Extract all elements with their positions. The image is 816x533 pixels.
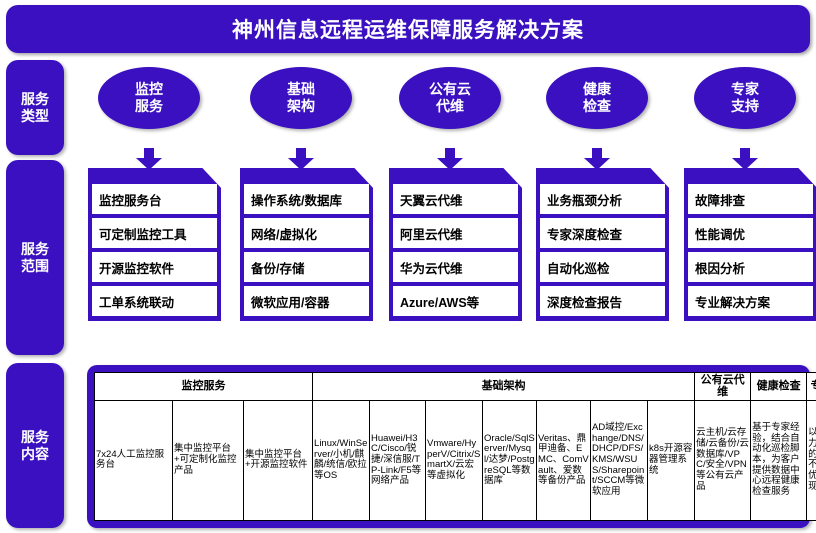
rail-service-content-line1: 服务: [21, 429, 49, 445]
scope-panel-public-cloud: 天翼云代维 阿里云代维 华为云代维 Azure/AWS等: [389, 168, 522, 321]
category-monitoring-line1: 监控: [135, 81, 163, 99]
scope-item[interactable]: 微软应用/容器: [244, 286, 369, 316]
scope-item[interactable]: 可定制监控工具: [92, 218, 217, 248]
category-ellipse-health-check[interactable]: 健康 检查: [546, 67, 648, 129]
table-group-header: 基础架构: [313, 373, 695, 401]
scope-item[interactable]: 深度检查报告: [540, 286, 665, 316]
table-cell: 以专家的能力支持复杂的Case，不限于调优、排障、现场支持: [807, 400, 816, 520]
category-public-cloud-line1: 公有云: [429, 81, 471, 99]
scope-item[interactable]: 阿里云代维: [393, 218, 518, 248]
table-group-header-row: 监控服务 基础架构 公有云代维 健康检查 专家支持: [95, 373, 816, 401]
category-health-check-line1: 健康: [583, 81, 611, 99]
arrow-down-icon-expert-support: [732, 148, 758, 170]
rail-service-scope-line2: 范围: [21, 258, 49, 274]
scope-item[interactable]: 监控服务台: [92, 184, 217, 214]
diagram-canvas: 神州信息远程运维保障服务解决方案 服务 类型 服务 范围 服务 内容 监控 服务…: [0, 0, 816, 533]
scope-item[interactable]: 业务瓶颈分析: [540, 184, 665, 214]
service-content-table-container: 监控服务 基础架构 公有云代维 健康检查 专家支持 7x24人工监控服务台 集中…: [87, 365, 810, 528]
scope-item[interactable]: 网络/虚拟化: [244, 218, 369, 248]
service-content-table: 监控服务 基础架构 公有云代维 健康检查 专家支持 7x24人工监控服务台 集中…: [94, 372, 816, 521]
table-cell: Huawei/H3C/Cisco/锐捷/深信服/TP-Link/F5等网络产品: [370, 400, 426, 520]
scope-item[interactable]: 专业解决方案: [688, 286, 813, 316]
page-title: 神州信息远程运维保障服务解决方案: [6, 5, 810, 53]
table-cell: AD域控/Exchange/DNS/DHCP/DFS/KMS/WSUS/Shar…: [591, 400, 648, 520]
scope-panel-health-check: 业务瓶颈分析 专家深度检查 自动化巡检 深度检查报告: [536, 168, 669, 321]
scope-item[interactable]: 开源监控软件: [92, 252, 217, 282]
rail-service-type-line1: 服务: [21, 91, 49, 107]
scope-item[interactable]: 专家深度检查: [540, 218, 665, 248]
category-ellipse-public-cloud[interactable]: 公有云 代维: [399, 67, 501, 129]
rail-service-type: 服务 类型: [6, 60, 64, 155]
table-row: 7x24人工监控服务台 集中监控平台+可定制化监控产品 集中监控平台+开源监控软…: [95, 400, 816, 520]
scope-item[interactable]: 天翼云代维: [393, 184, 518, 214]
table-cell: k8s开源容器管理系统: [648, 400, 695, 520]
scope-item[interactable]: 工单系统联动: [92, 286, 217, 316]
category-infrastructure-line2: 架构: [287, 98, 315, 116]
scope-item[interactable]: 性能调优: [688, 218, 813, 248]
scope-item[interactable]: 华为云代维: [393, 252, 518, 282]
scope-panel-expert-support: 故障排查 性能调优 根因分析 专业解决方案: [684, 168, 816, 321]
table-cell: Vmware/HyperV/Citrix/SmartX/云宏等虚拟化: [426, 400, 483, 520]
rail-service-scope-line1: 服务: [21, 241, 49, 257]
scope-item[interactable]: Azure/AWS等: [393, 286, 518, 316]
scope-panel-monitoring: 监控服务台 可定制监控工具 开源监控软件 工单系统联动: [88, 168, 221, 321]
category-health-check-line2: 检查: [583, 98, 611, 116]
rail-service-scope: 服务 范围: [6, 160, 64, 355]
category-ellipse-infrastructure[interactable]: 基础 架构: [250, 67, 352, 129]
scope-item[interactable]: 根因分析: [688, 252, 813, 282]
table-cell: 集中监控平台+可定制化监控产品: [173, 400, 244, 520]
category-public-cloud-line2: 代维: [436, 98, 464, 116]
table-group-header: 监控服务: [95, 373, 313, 401]
table-cell: 基于专家经验，结合自动化巡检脚本，为客户提供数据中心远程健康检查服务: [751, 400, 807, 520]
category-expert-support-line1: 专家: [731, 81, 759, 99]
arrow-down-icon-infrastructure: [288, 148, 314, 170]
table-cell: 7x24人工监控服务台: [95, 400, 173, 520]
rail-service-type-line2: 类型: [21, 108, 49, 124]
scope-item[interactable]: 自动化巡检: [540, 252, 665, 282]
scope-item[interactable]: 故障排查: [688, 184, 813, 214]
rail-service-content: 服务 内容: [6, 363, 64, 528]
category-ellipse-expert-support[interactable]: 专家 支持: [694, 67, 796, 129]
category-infrastructure-line1: 基础: [287, 81, 315, 99]
table-group-header: 公有云代维: [695, 373, 751, 401]
table-cell: Veritas、鼎甲迪备、EMC、ComVault、爱数等备份产品: [537, 400, 591, 520]
category-ellipse-monitoring[interactable]: 监控 服务: [98, 67, 200, 129]
table-group-header: 健康检查: [751, 373, 807, 401]
arrow-down-icon-health-check: [584, 148, 610, 170]
scope-item[interactable]: 操作系统/数据库: [244, 184, 369, 214]
table-cell: 集中监控平台+开源监控软件: [244, 400, 313, 520]
rail-service-content-line2: 内容: [21, 446, 49, 462]
arrow-down-icon-monitoring: [136, 148, 162, 170]
table-group-header: 专家支持: [807, 373, 816, 401]
category-expert-support-line2: 支持: [731, 98, 759, 116]
category-monitoring-line2: 服务: [135, 98, 163, 116]
table-cell: Linux/WinServer/小机/麒麟/统信/欧拉等OS: [313, 400, 370, 520]
scope-item[interactable]: 备份/存储: [244, 252, 369, 282]
scope-panel-infrastructure: 操作系统/数据库 网络/虚拟化 备份/存储 微软应用/容器: [240, 168, 373, 321]
arrow-down-icon-public-cloud: [437, 148, 463, 170]
table-cell: 云主机/云存储/云备份/云数据库/VPC/安全/VPN等公有云产品: [695, 400, 751, 520]
table-cell: Oracle/SqlServer/Mysql/达梦/PostgreSQL等数据库: [483, 400, 537, 520]
